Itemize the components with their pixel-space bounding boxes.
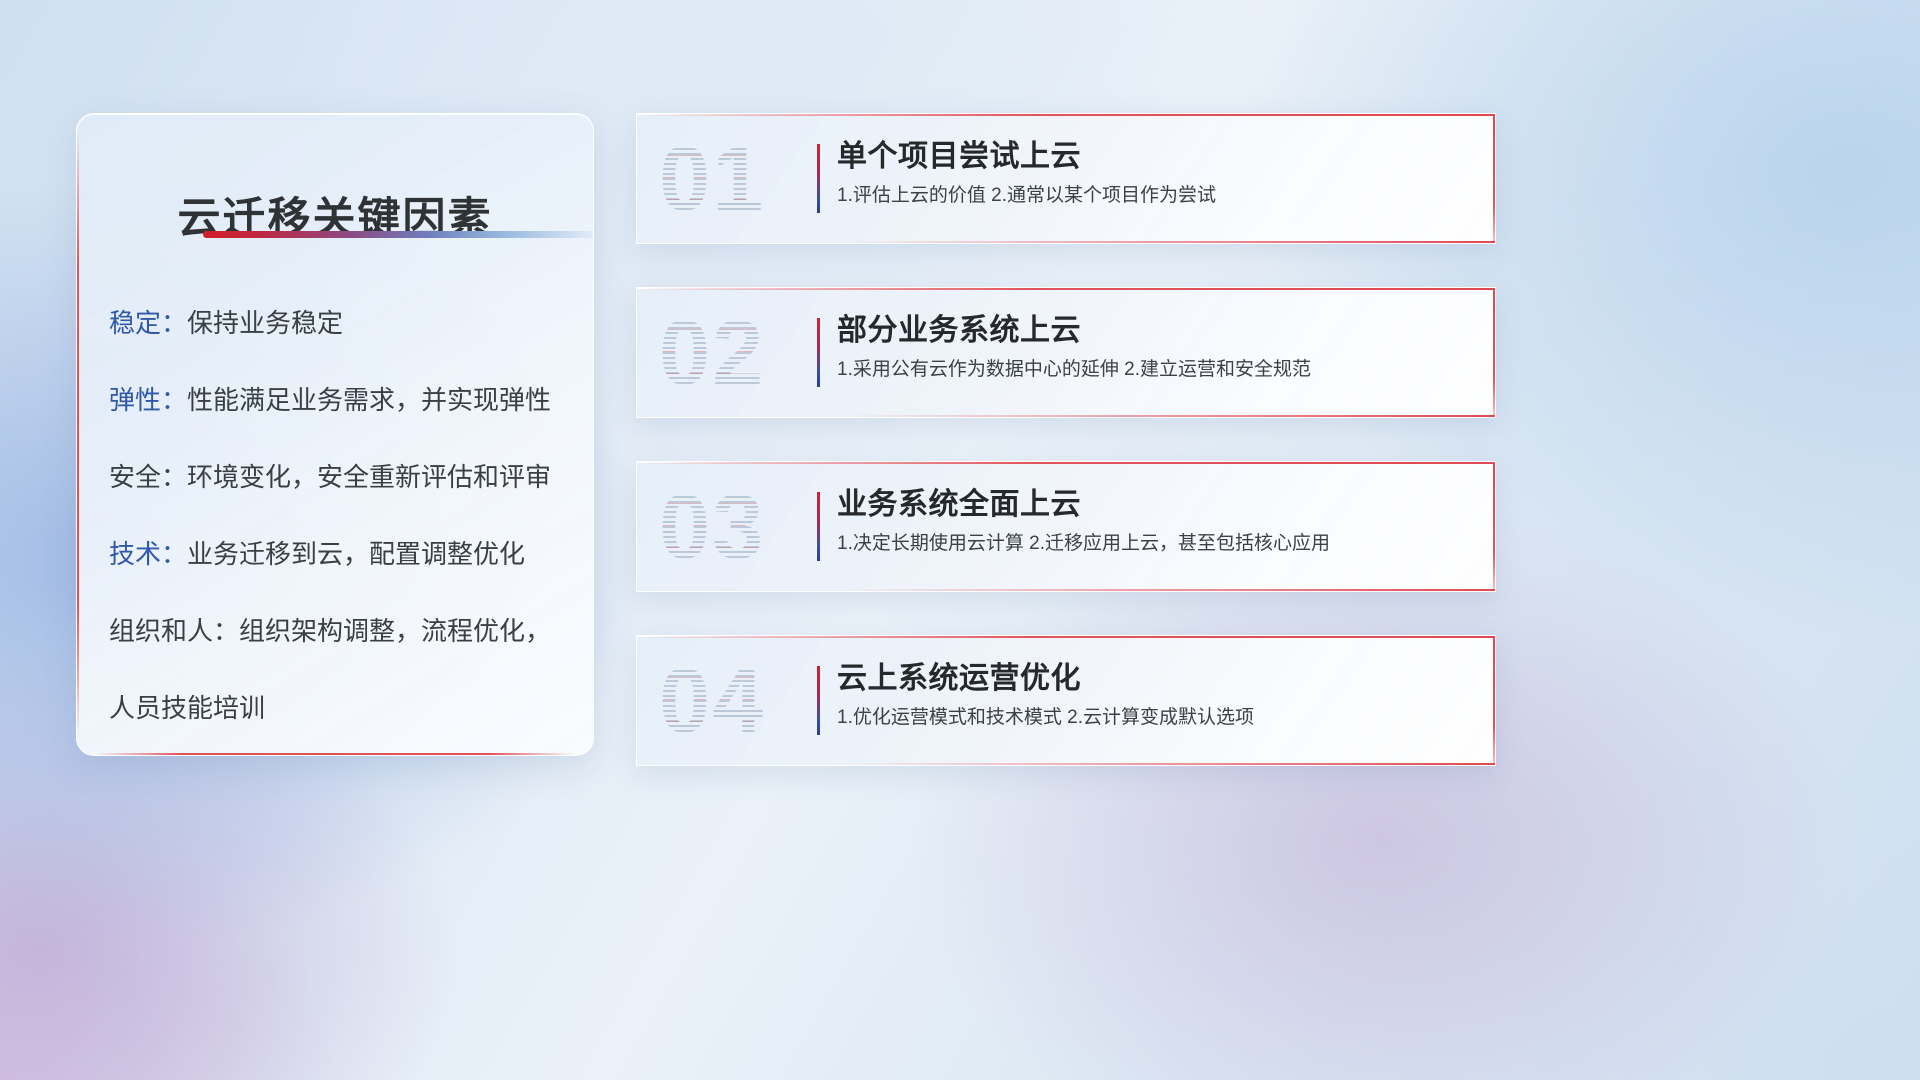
card-right-accent xyxy=(1493,462,1495,591)
card-top-accent xyxy=(637,636,1495,638)
card-heading: 单个项目尝试上云 xyxy=(837,140,1465,173)
card-heading: 部分业务系统上云 xyxy=(837,314,1465,347)
list-item: 安全：环境变化，安全重新评估和评审 xyxy=(109,464,569,490)
card-divider-bar xyxy=(817,144,820,213)
card-divider-bar xyxy=(817,492,820,561)
factor-label: 弹性： xyxy=(109,385,187,415)
factor-label: 组织和人： xyxy=(109,616,239,646)
slide-stage: 云迁移关键因素 稳定：保持业务稳定 弹性：性能满足业务需求，并实现弹性 安全：环… xyxy=(0,0,1920,1080)
card-subtitle: 1.采用公有云作为数据中心的延伸 2.建立运营和安全规范 xyxy=(837,359,1465,382)
card-body: 部分业务系统上云 1.采用公有云作为数据中心的延伸 2.建立运营和安全规范 xyxy=(837,314,1465,382)
list-item: 人员技能培训 xyxy=(109,695,569,721)
card-right-accent xyxy=(1493,288,1495,417)
factor-value: 保持业务稳定 xyxy=(187,308,343,338)
card-top-accent xyxy=(637,114,1495,116)
stage-card-03[interactable]: 03 03 业务系统全面上云 1.决定长期使用云计算 2.迁移应用上云，甚至包括… xyxy=(636,461,1496,592)
card-right-accent xyxy=(1493,636,1495,765)
key-factors-panel: 云迁移关键因素 稳定：保持业务稳定 弹性：性能满足业务需求，并实现弹性 安全：环… xyxy=(76,113,594,756)
factor-label: 稳定： xyxy=(109,308,187,338)
card-body: 单个项目尝试上云 1.评估上云的价值 2.通常以某个项目作为尝试 xyxy=(837,140,1465,208)
stage-number: 01 xyxy=(659,133,765,225)
migration-stage-cards: 01 01 单个项目尝试上云 1.评估上云的价值 2.通常以某个项目作为尝试 0… xyxy=(636,113,1496,766)
stage-number: 04 xyxy=(659,655,765,747)
card-bottom-accent xyxy=(843,415,1495,417)
card-bottom-accent xyxy=(843,589,1495,591)
card-bottom-accent xyxy=(843,763,1495,765)
list-item: 技术：业务迁移到云，配置调整优化 xyxy=(109,541,569,567)
factor-value: 组织架构调整，流程优化， xyxy=(239,616,551,646)
stage-number: 02 xyxy=(659,307,765,399)
factor-value: 性能满足业务需求，并实现弹性 xyxy=(187,385,551,415)
factor-label: 技术： xyxy=(109,539,187,569)
factor-value: 业务迁移到云，配置调整优化 xyxy=(187,539,525,569)
factor-value: 人员技能培训 xyxy=(109,693,265,723)
list-item: 组织和人：组织架构调整，流程优化， xyxy=(109,618,569,644)
list-item: 弹性：性能满足业务需求，并实现弹性 xyxy=(109,387,569,413)
card-heading: 业务系统全面上云 xyxy=(837,488,1465,521)
stage-number: 03 xyxy=(659,481,765,573)
card-divider-bar xyxy=(817,666,820,735)
factor-value: 环境变化，安全重新评估和评审 xyxy=(187,462,551,492)
stage-card-01[interactable]: 01 01 单个项目尝试上云 1.评估上云的价值 2.通常以某个项目作为尝试 xyxy=(636,113,1496,244)
list-item: 稳定：保持业务稳定 xyxy=(109,310,569,336)
card-right-accent xyxy=(1493,114,1495,243)
card-subtitle: 1.优化运营模式和技术模式 2.云计算变成默认选项 xyxy=(837,707,1465,730)
stage-card-04[interactable]: 04 04 云上系统运营优化 1.优化运营模式和技术模式 2.云计算变成默认选项 xyxy=(636,635,1496,766)
title-underline-gradient xyxy=(203,231,593,238)
card-top-accent xyxy=(637,288,1495,290)
card-divider-bar xyxy=(817,318,820,387)
card-heading: 云上系统运营优化 xyxy=(837,662,1465,695)
stage-card-02[interactable]: 02 02 部分业务系统上云 1.采用公有云作为数据中心的延伸 2.建立运营和安… xyxy=(636,287,1496,418)
factor-label: 安全： xyxy=(109,462,187,492)
card-top-accent xyxy=(637,462,1495,464)
factor-list: 稳定：保持业务稳定 弹性：性能满足业务需求，并实现弹性 安全：环境变化，安全重新… xyxy=(109,310,569,721)
card-subtitle: 1.评估上云的价值 2.通常以某个项目作为尝试 xyxy=(837,185,1465,208)
panel-bottom-accent-bar xyxy=(95,753,575,755)
card-body: 业务系统全面上云 1.决定长期使用云计算 2.迁移应用上云，甚至包括核心应用 xyxy=(837,488,1465,556)
card-body: 云上系统运营优化 1.优化运营模式和技术模式 2.云计算变成默认选项 xyxy=(837,662,1465,730)
card-bottom-accent xyxy=(843,241,1495,243)
card-subtitle: 1.决定长期使用云计算 2.迁移应用上云，甚至包括核心应用 xyxy=(837,533,1465,556)
